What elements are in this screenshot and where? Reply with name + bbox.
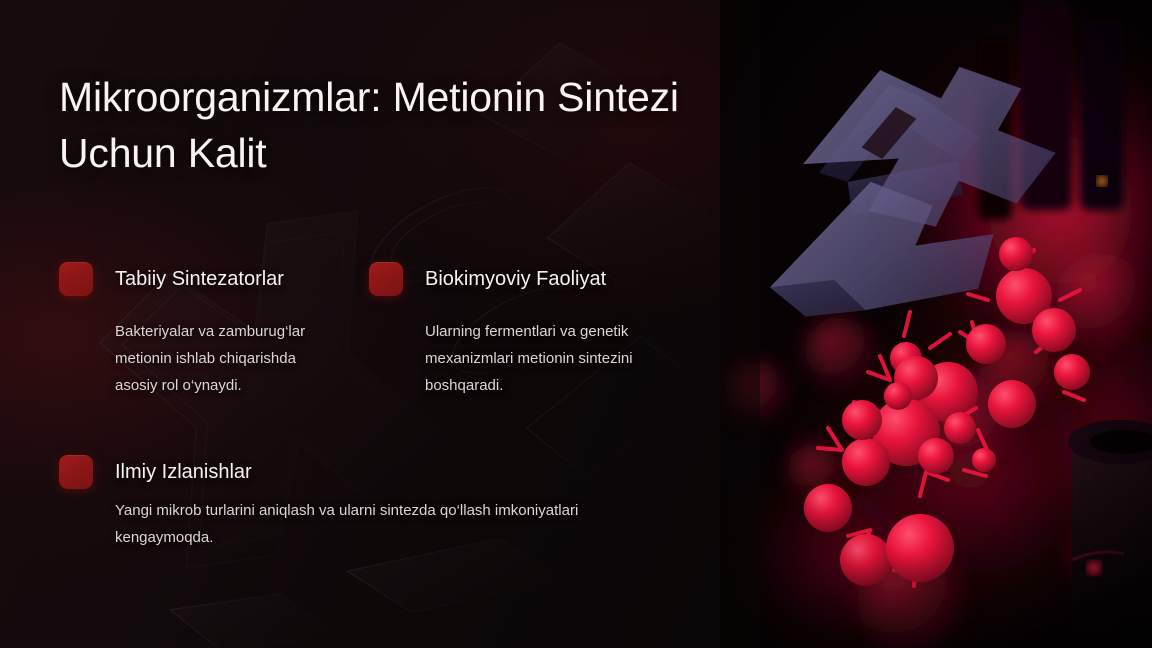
microbiology-virus-photo	[720, 0, 1152, 648]
feature-heading-row: Biokimyoviy Faoliyat	[369, 262, 643, 296]
content-panel: Mikroorganizmlar: Metionin Sintezi Uchun…	[0, 0, 722, 648]
feature-heading-row: Tabiiy Sintezatorlar	[59, 262, 333, 296]
feature-item-natural-synthesizers[interactable]: Tabiiy Sintezatorlar Bakteriyalar va zam…	[59, 262, 369, 399]
feature-item-biochemical-activity[interactable]: Biokimyoviy Faoliyat Ularning fermentlar…	[369, 262, 679, 399]
feature-body: Bakteriyalar va zamburug‘lar metionin is…	[115, 318, 333, 399]
presentation-slide: Mikroorganizmlar: Metionin Sintezi Uchun…	[0, 0, 1152, 648]
feature-heading: Ilmiy Izlanishlar	[115, 460, 252, 484]
red-rounded-square-icon	[369, 262, 403, 296]
feature-heading: Biokimyoviy Faoliyat	[425, 267, 606, 291]
feature-row-2: Ilmiy Izlanishlar Yangi mikrob turlarini…	[59, 455, 679, 551]
feature-heading: Tabiiy Sintezatorlar	[115, 267, 284, 291]
feature-body: Yangi mikrob turlarini aniqlash va ularn…	[115, 497, 649, 551]
slide-title: Mikroorganizmlar: Metionin Sintezi Uchun…	[59, 69, 679, 181]
feature-item-scientific-research[interactable]: Ilmiy Izlanishlar Yangi mikrob turlarini…	[59, 455, 679, 551]
image-panel	[720, 0, 1152, 648]
red-rounded-square-icon	[59, 455, 93, 489]
feature-heading-row: Ilmiy Izlanishlar	[59, 455, 649, 489]
feature-row-1: Tabiiy Sintezatorlar Bakteriyalar va zam…	[59, 262, 679, 399]
feature-body: Ularning fermentlari va genetik mexanizm…	[425, 318, 643, 399]
red-rounded-square-icon	[59, 262, 93, 296]
feature-list: Tabiiy Sintezatorlar Bakteriyalar va zam…	[59, 262, 679, 551]
